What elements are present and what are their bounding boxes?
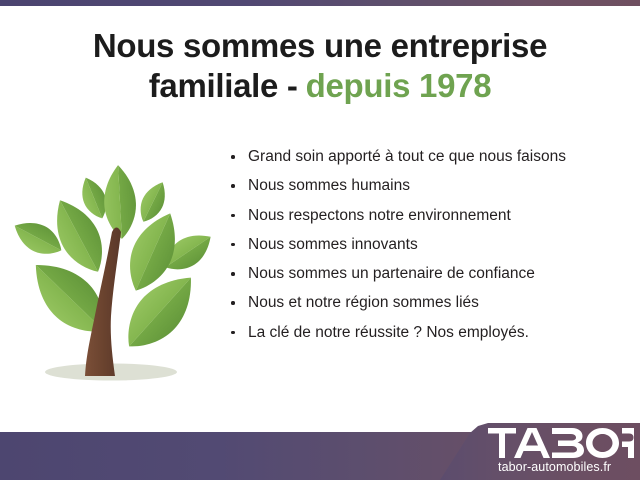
list-item-label: Nous sommes un partenaire de confiance bbox=[248, 265, 535, 282]
headline-line-2-black: familiale - bbox=[149, 67, 298, 104]
list-item-label: Nous respectons notre environnement bbox=[248, 207, 511, 224]
top-accent-bar bbox=[0, 0, 640, 6]
headline-line-1: Nous sommes une entreprise bbox=[0, 26, 640, 66]
tree-icon bbox=[8, 140, 218, 392]
list-item: Nous sommes innovants bbox=[228, 236, 628, 254]
tree-illustration bbox=[8, 140, 218, 392]
bullet-icon bbox=[231, 331, 235, 335]
list-item-label: Grand soin apporté à tout ce que nous fa… bbox=[248, 148, 566, 165]
bullet-icon bbox=[231, 243, 235, 247]
list-item-label: Nous sommes innovants bbox=[248, 236, 418, 253]
list-item: Nous respectons notre environnement bbox=[228, 207, 628, 225]
slide-canvas: Nous sommes une entreprise familiale -de… bbox=[0, 0, 640, 480]
bullet-icon bbox=[231, 301, 235, 305]
list-item-label: Nous sommes humains bbox=[248, 177, 410, 194]
list-item: Grand soin apporté à tout ce que nous fa… bbox=[228, 148, 628, 166]
brand-tagline: tabor-automobiles.fr bbox=[498, 460, 636, 474]
bullet-icon bbox=[231, 184, 235, 188]
bullet-icon bbox=[231, 272, 235, 276]
list-item-label: Nous et notre région sommes liés bbox=[248, 294, 479, 311]
list-item: Nous sommes un partenaire de confiance bbox=[228, 265, 628, 283]
tabor-wordmark-icon bbox=[488, 428, 634, 458]
brand-logo[interactable]: tabor-automobiles.fr bbox=[488, 428, 636, 474]
benefits-list: Grand soin apporté à tout ce que nous fa… bbox=[228, 148, 628, 342]
bullet-icon bbox=[231, 155, 235, 159]
headline-line-2: familiale -depuis 1978 bbox=[0, 66, 640, 106]
list-item: Nous et notre région sommes liés bbox=[228, 294, 628, 312]
bullet-icon bbox=[231, 214, 235, 218]
list-item: La clé de notre réussite ? Nos employés. bbox=[228, 324, 628, 342]
list-item-label: La clé de notre réussite ? Nos employés. bbox=[248, 324, 529, 341]
page-title: Nous sommes une entreprise familiale -de… bbox=[0, 26, 640, 107]
headline-line-2-green: depuis 1978 bbox=[306, 67, 492, 104]
list-item: Nous sommes humains bbox=[228, 177, 628, 195]
